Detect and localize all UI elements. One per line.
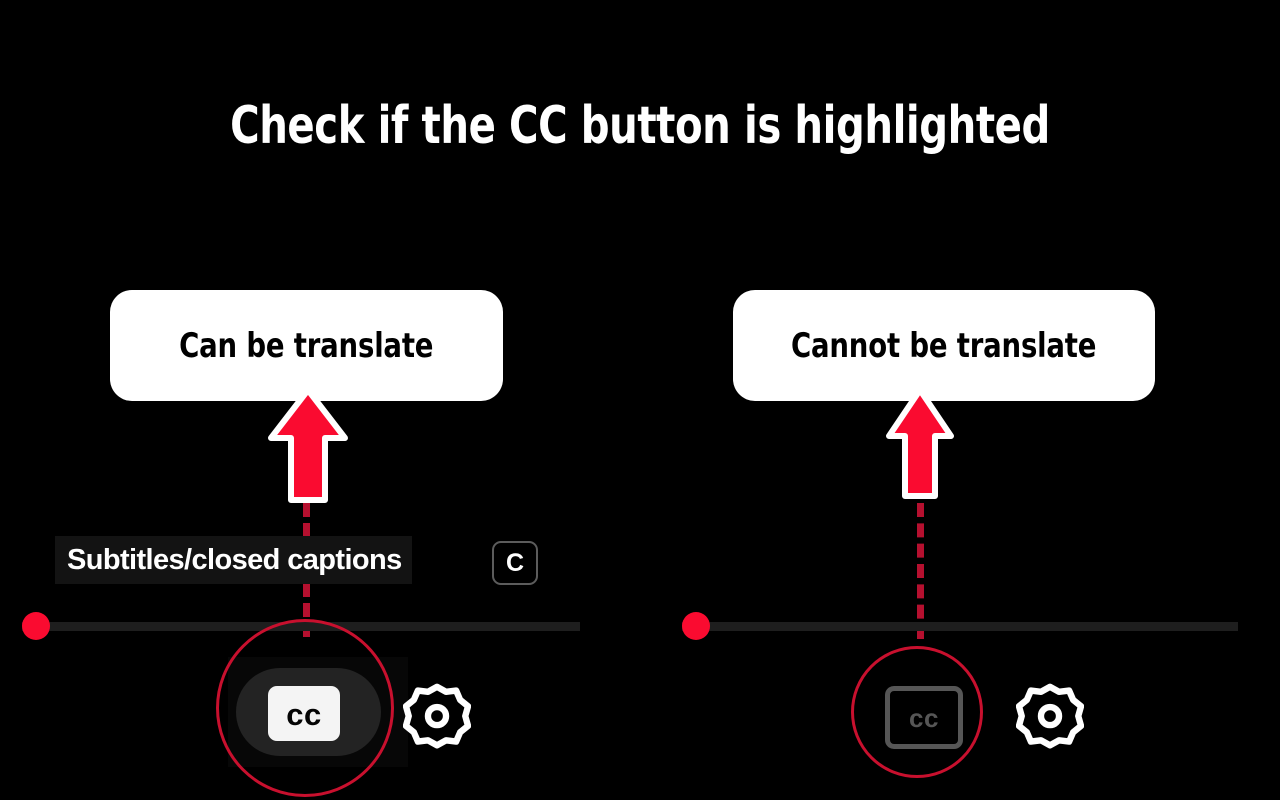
- keyboard-shortcut-label: C: [506, 549, 524, 578]
- scrubber-knob-icon[interactable]: [682, 612, 710, 640]
- callout-can-be-translate: Can be translate: [110, 290, 503, 401]
- scrubber-knob-icon[interactable]: [22, 612, 50, 640]
- progress-track[interactable]: [682, 622, 1238, 631]
- up-arrow-icon: [265, 386, 351, 504]
- callout-cannot-be-translate: Cannot be translate: [733, 290, 1155, 401]
- highlight-circle-right: [851, 646, 983, 778]
- subtitles-tooltip: Subtitles/closed captions: [55, 536, 412, 584]
- gear-icon[interactable]: [1016, 681, 1084, 749]
- up-arrow-icon: [884, 386, 956, 500]
- gear-icon[interactable]: [403, 681, 471, 749]
- callout-left-label: Can be translate: [179, 326, 433, 366]
- keyboard-shortcut-badge: C: [492, 541, 538, 585]
- screenshot-stage: Check if the CC button is highlighted Ca…: [0, 0, 1280, 800]
- callout-right-label: Cannot be translate: [791, 326, 1096, 366]
- page-title: Check if the CC button is highlighted: [90, 96, 1191, 156]
- subtitles-tooltip-label: Subtitles/closed captions: [67, 544, 402, 577]
- progress-bar-right[interactable]: [682, 618, 1238, 634]
- highlight-circle-left: [216, 619, 394, 797]
